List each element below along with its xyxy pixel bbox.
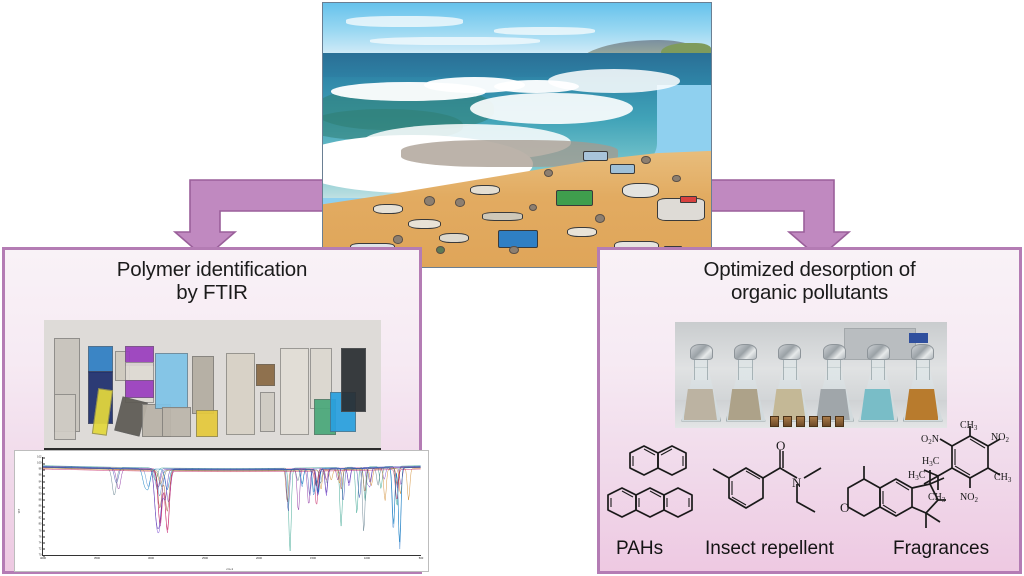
ftir-y-tick: 94 — [39, 480, 43, 483]
litter-item — [470, 185, 499, 195]
erlenmeyer-flask — [858, 344, 896, 422]
ftir-y-tick: 102 — [37, 456, 43, 459]
cloud-icon — [370, 37, 541, 45]
litter-item — [439, 233, 468, 243]
litter-item — [482, 212, 523, 222]
ftir-x-tick: 4000 — [40, 555, 46, 560]
litter-item — [408, 219, 441, 229]
erlenmeyer-flask — [814, 344, 852, 422]
ftir-y-tick: 82 — [39, 517, 43, 520]
fragrances-label: Fragrances — [893, 538, 989, 560]
ftir-trace — [43, 467, 421, 529]
plastic-fragment — [341, 348, 367, 411]
ftir-y-tick: 90 — [39, 492, 43, 495]
erlenmeyer-flask — [770, 344, 808, 422]
plastic-fragment — [155, 353, 187, 409]
foil-cap — [911, 344, 934, 360]
erlenmeyer-flask — [726, 344, 764, 422]
right-panel-title-line1: Optimized desorption of — [704, 258, 916, 281]
ftir-y-tick: 96 — [39, 474, 43, 477]
ftir-y-tick: 74 — [39, 541, 43, 544]
flask-contents — [905, 389, 938, 420]
ftir-x-tick: 500 — [419, 555, 423, 560]
ftir-y-tick: 72 — [39, 547, 43, 550]
plastic-fragment — [192, 356, 214, 414]
flask-contents — [684, 389, 717, 420]
mx-no2-bottom: NO2 — [960, 492, 978, 504]
sample-vial — [822, 416, 831, 427]
ftir-trace — [43, 467, 421, 549]
plastic-debris-photo — [44, 320, 381, 451]
plastic-fragment — [196, 410, 218, 438]
pebble — [455, 198, 465, 206]
left-panel-title-line2: by FTIR — [176, 281, 248, 304]
ftir-y-tick: 76 — [39, 535, 43, 538]
ftir-x-tick: 1000 — [364, 555, 370, 560]
ftir-trace — [43, 466, 421, 533]
plastic-fragment — [226, 353, 255, 434]
ftir-x-tick: 1500 — [310, 555, 316, 560]
musk-xylene-structure: CH3 NO2 O2N CH3 NO2 H3C H3C CH3 — [908, 418, 1024, 530]
litter-item — [373, 204, 402, 214]
flask-contents — [861, 389, 894, 420]
ftir-trace — [43, 467, 421, 533]
litter-item — [583, 151, 608, 161]
beach-pollution-illustration — [322, 2, 712, 268]
flask-contents — [728, 389, 761, 420]
mx-h3c-upper: H3C — [922, 456, 940, 468]
ftir-x-tick: 2500 — [202, 555, 208, 560]
litter-item — [567, 227, 596, 237]
pah-structures — [600, 443, 706, 535]
pebble — [529, 204, 537, 211]
plastic-fragment — [162, 407, 191, 437]
sample-vial — [835, 416, 844, 427]
ftir-y-tick: 84 — [39, 511, 43, 514]
deet-structure: O N — [705, 440, 835, 535]
plastic-fragment — [125, 380, 154, 397]
mx-h3c-lower: H3C — [908, 470, 926, 482]
ftir-traces — [43, 457, 421, 555]
right-panel-title: Optimized desorption of organic pollutan… — [600, 250, 1019, 305]
cloud-icon — [346, 16, 462, 27]
right-panel-title-line2: organic pollutants — [731, 281, 888, 304]
litter-item — [556, 190, 593, 205]
ftir-x-tick: 2000 — [256, 555, 262, 560]
litter-item — [498, 230, 539, 248]
sample-vial — [809, 416, 818, 427]
foil-cap — [778, 344, 801, 360]
galaxolide-oxygen-label: O — [840, 500, 849, 515]
foil-cap — [734, 344, 757, 360]
erlenmeyer-flask — [903, 344, 941, 422]
sample-vial — [770, 416, 779, 427]
mx-ch3-right: CH3 — [994, 472, 1012, 484]
shore-foam — [548, 69, 680, 93]
mx-o2n-left: O2N — [921, 434, 939, 446]
ftir-x-tick: 3000 — [148, 555, 154, 560]
pebble — [393, 235, 403, 243]
ftir-x-axis-label: cm-1 — [226, 567, 233, 571]
sample-vial — [796, 416, 805, 427]
litter-item — [680, 196, 698, 203]
pebble — [424, 196, 435, 206]
pebble — [595, 214, 606, 223]
foil-cap — [823, 344, 846, 360]
cloud-icon — [494, 27, 595, 35]
ftir-trace — [43, 467, 421, 542]
plastic-fragment — [256, 364, 275, 386]
litter-item — [610, 164, 635, 174]
sample-vial — [783, 416, 792, 427]
ftir-y-tick: 88 — [39, 498, 43, 501]
ftir-y-tick: 78 — [39, 529, 43, 532]
ftir-trace — [43, 466, 421, 551]
mx-no2-topright: NO2 — [991, 432, 1009, 444]
ftir-y-axis-label: %T — [17, 509, 21, 514]
ftir-y-tick: 98 — [39, 468, 43, 471]
ftir-trace — [43, 469, 421, 530]
deet-nitrogen-label: N — [792, 475, 802, 490]
erlenmeyer-flasks-photo — [675, 322, 947, 428]
left-panel-title-line1: Polymer identification — [117, 258, 307, 281]
plastic-fragment — [54, 394, 76, 440]
left-panel-title: Polymer identification by FTIR — [5, 250, 419, 305]
foil-cap — [867, 344, 890, 360]
ftir-spectra-chart: %T cm-1 10210098969492908886848280787674… — [14, 450, 429, 572]
plastic-fragment — [260, 392, 275, 432]
ftir-y-tick: 80 — [39, 523, 43, 526]
graphical-abstract: Polymer identification by FTIR %T cm-1 1… — [0, 0, 1024, 576]
ftir-y-tick: 100 — [37, 462, 43, 465]
deet-oxygen-label: O — [776, 440, 785, 453]
ftir-y-tick: 92 — [39, 486, 43, 489]
mx-ch3-top: CH3 — [960, 420, 978, 432]
foil-cap — [690, 344, 713, 360]
ftir-trace — [43, 468, 421, 531]
erlenmeyer-flask — [681, 344, 719, 422]
ftir-y-tick: 86 — [39, 505, 43, 508]
plastic-fragment — [280, 348, 309, 434]
litter-item — [622, 183, 659, 198]
pah-label: PAHs — [616, 538, 663, 560]
plastic-fragment — [88, 346, 114, 374]
ftir-x-tick: 3500 — [94, 555, 100, 560]
insect-repellent-label: Insect repellent — [705, 538, 834, 560]
mx-ch3-bottom: CH3 — [928, 492, 946, 504]
ftir-plot-area: 1021009896949290888684828078767472704000… — [42, 457, 421, 556]
